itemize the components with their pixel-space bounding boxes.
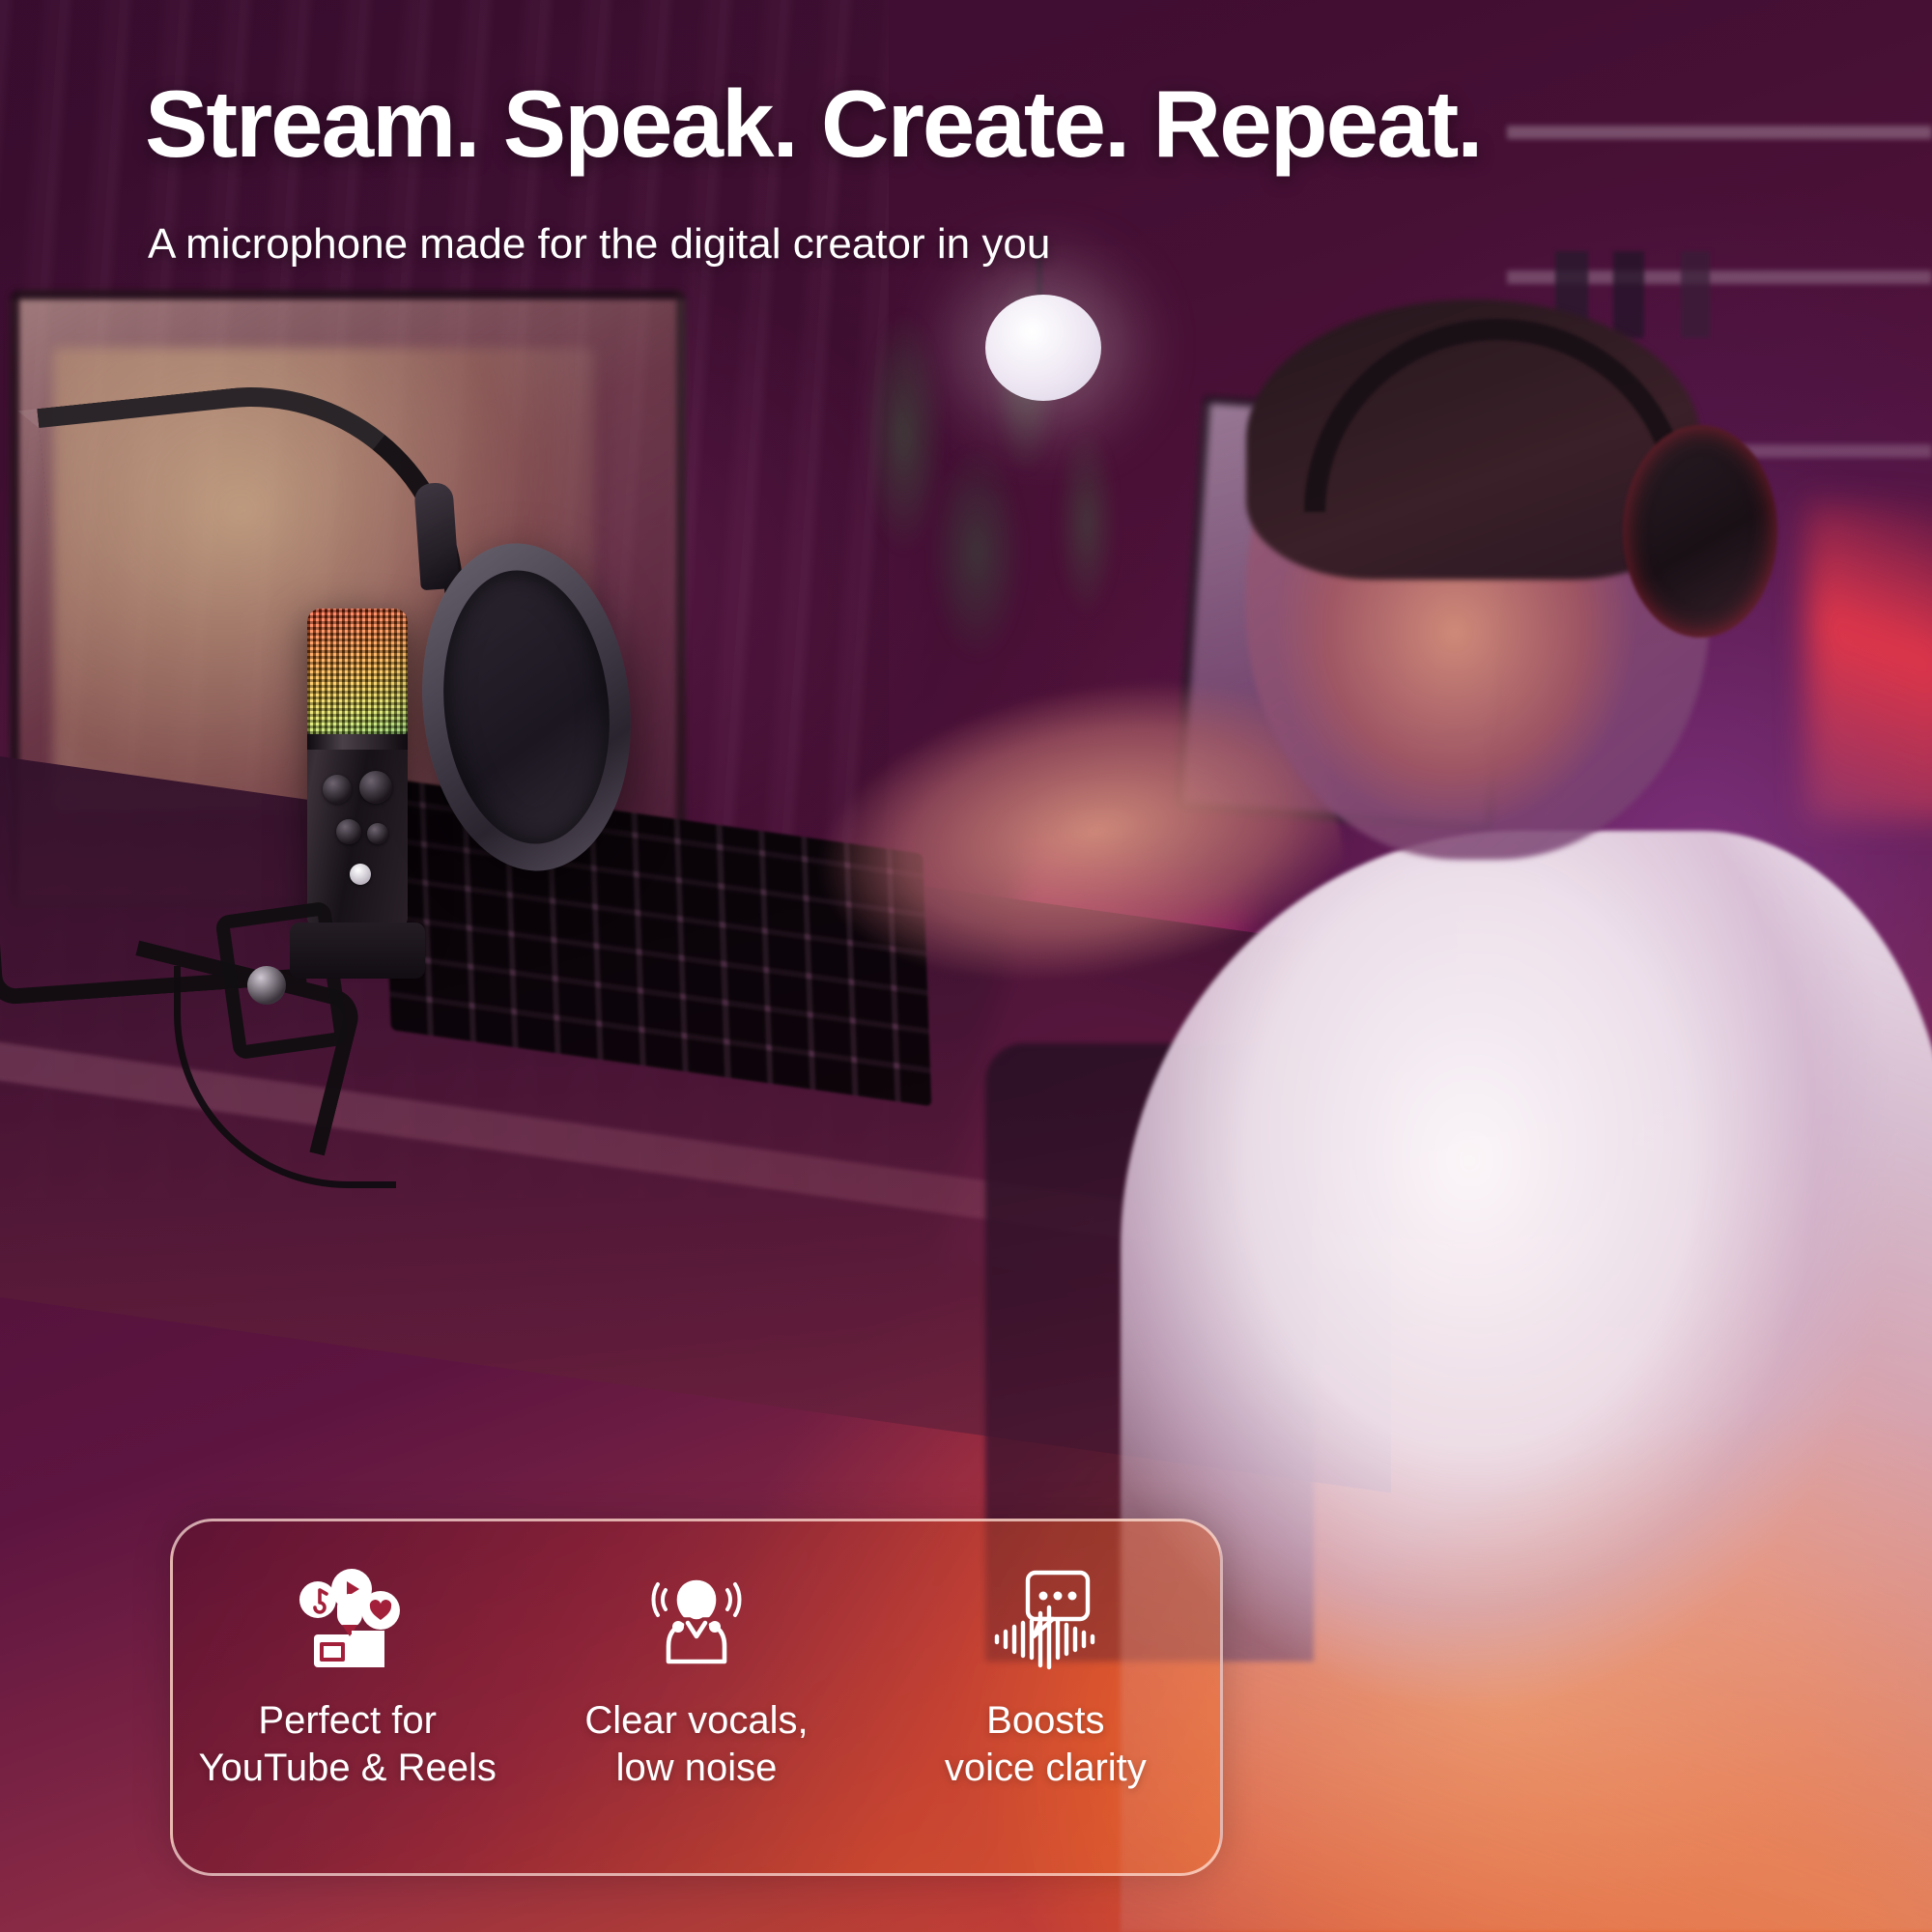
page-title: Stream. Speak. Create. Repeat. [145, 70, 1481, 179]
microphone-body [307, 609, 408, 927]
feature-item-youtube-reels: Perfect for YouTube & Reels [173, 1521, 522, 1792]
feature-label: Clear vocals, low noise [584, 1697, 808, 1792]
pop-filter-arm [413, 482, 460, 591]
microphone-gain-knob [323, 775, 352, 804]
microphone-base [290, 923, 425, 979]
microphone-mix-knob [367, 823, 388, 844]
microphone-indicator-led [350, 864, 371, 885]
feature-item-clear-vocals: Clear vocals, low noise [522, 1521, 870, 1792]
headphone-earcup [1623, 425, 1777, 638]
pop-filter-mesh [431, 562, 623, 852]
feature-panel: Perfect for YouTube & Reels Cl [170, 1519, 1223, 1876]
microphone-ring [307, 734, 408, 750]
microphone-mount-screw [247, 966, 286, 1005]
microphone-mute-knob [336, 819, 361, 844]
creator-media-icon [292, 1562, 404, 1676]
speech-waveform-icon [987, 1562, 1103, 1676]
page-subtitle: A microphone made for the digital creato… [148, 220, 1050, 269]
person-speaking-icon [642, 1562, 751, 1676]
feature-label: Boosts voice clarity [945, 1697, 1147, 1792]
feature-item-voice-clarity: Boosts voice clarity [871, 1521, 1220, 1792]
promo-poster: Stream. Speak. Create. Repeat. A microph… [0, 0, 1932, 1932]
background-lamp-bulb [985, 295, 1101, 401]
feature-label: Perfect for YouTube & Reels [198, 1697, 496, 1792]
microphone-volume-knob [359, 771, 392, 804]
background-neon-strip-right [1806, 502, 1932, 821]
person-torso [1121, 831, 1932, 1932]
microphone-rgb-grille [307, 609, 408, 734]
